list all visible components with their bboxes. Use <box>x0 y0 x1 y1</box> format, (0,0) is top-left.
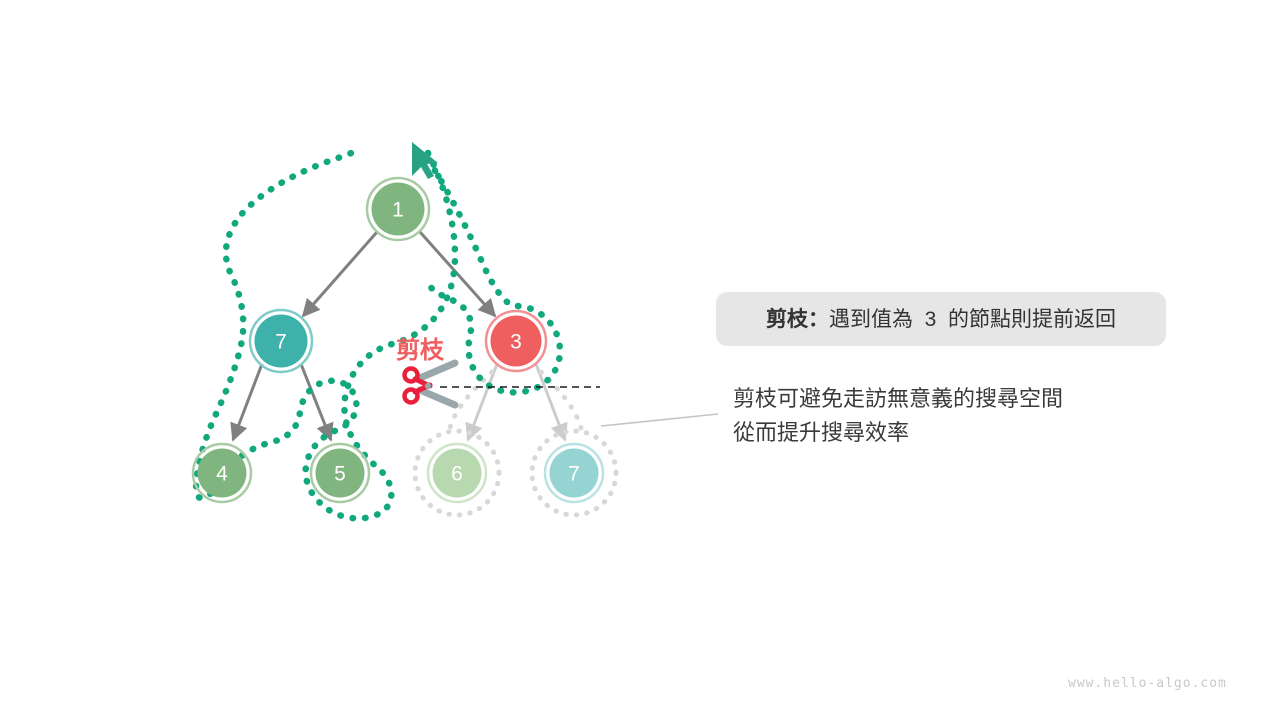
note-leader-line <box>601 414 718 426</box>
edge-3-to-7-faded <box>536 364 565 440</box>
node-value: 4 <box>216 463 228 486</box>
tree-node-3-pruned[interactable]: 3 <box>486 311 546 371</box>
tree-node-7-skipped[interactable]: 7 <box>545 444 603 502</box>
node-value: 7 <box>568 463 580 486</box>
tree-diagram-svg: 1 7 3 4 5 <box>0 0 1280 720</box>
tree-node-1[interactable]: 1 <box>367 178 429 240</box>
tree-node-5[interactable]: 5 <box>311 444 369 502</box>
prune-tag-label: 剪枝 <box>396 330 444 365</box>
site-watermark: www.hello-algo.com <box>1068 676 1227 691</box>
tree-node-7-left[interactable]: 7 <box>250 310 312 372</box>
edge-1-to-3 <box>420 232 495 316</box>
prune-info-text: 剪枝：遇到值為 3 的節點則提前返回 <box>766 309 1116 330</box>
edge-1-to-7 <box>303 232 377 316</box>
prune-explanation-note: 剪枝可避免走訪無意義的搜尋空間 從而提升搜尋效率 <box>733 382 1063 450</box>
halo-branch-left <box>450 372 492 428</box>
scissors-icon <box>405 363 456 405</box>
tree-node-6-skipped[interactable]: 6 <box>428 444 486 502</box>
node-value: 5 <box>334 463 346 486</box>
node-value: 6 <box>451 463 463 486</box>
node-value: 3 <box>510 331 522 354</box>
tree-node-4[interactable]: 4 <box>193 444 251 502</box>
edge-3-to-6 <box>468 364 497 440</box>
node-value: 7 <box>275 331 287 354</box>
prune-info-body: 遇到值為 3 的節點則提前返回 <box>829 308 1116 331</box>
prune-info-pill: 剪枝：遇到值為 3 的節點則提前返回 <box>716 292 1166 346</box>
diagram-canvas: 1 7 3 4 5 <box>0 0 1280 720</box>
prune-info-prefix: 剪枝： <box>766 308 829 331</box>
edge-7-to-4 <box>233 364 262 440</box>
node-value: 1 <box>392 199 404 222</box>
